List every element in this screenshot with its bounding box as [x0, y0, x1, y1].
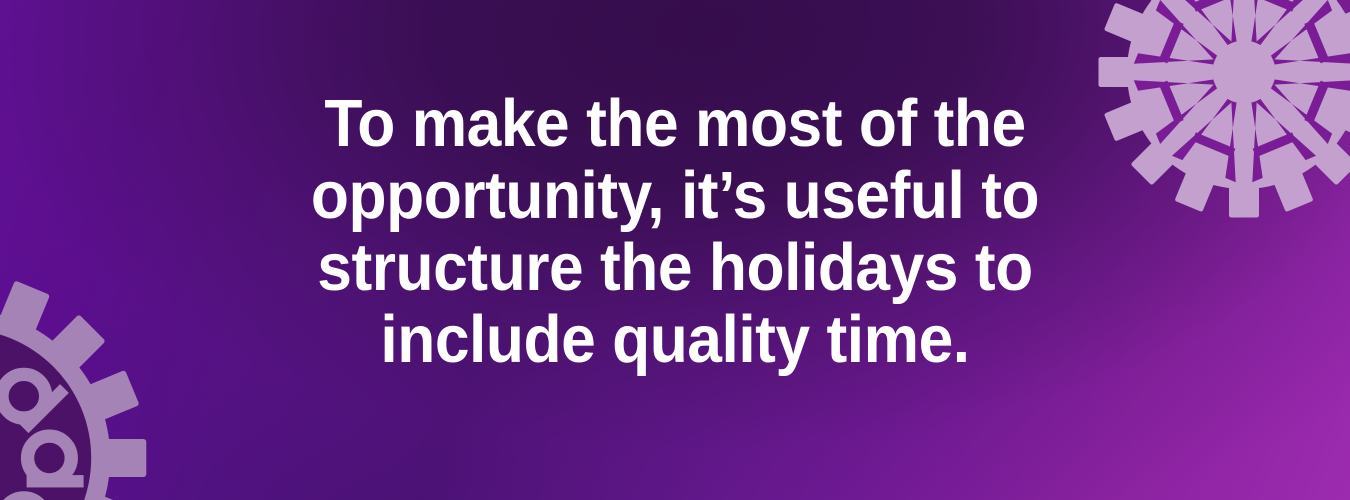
quote-line-1: To make the most of the — [47, 88, 1303, 160]
quote-card: To make the most of the opportunity, it’… — [0, 0, 1350, 500]
quote-line-2: opportunity, it’s useful to — [47, 160, 1303, 232]
quote-text-block: To make the most of the opportunity, it’… — [0, 88, 1350, 376]
quote-line-3: structure the holidays to — [47, 232, 1303, 304]
quote-line-4: include quality time. — [47, 304, 1303, 376]
